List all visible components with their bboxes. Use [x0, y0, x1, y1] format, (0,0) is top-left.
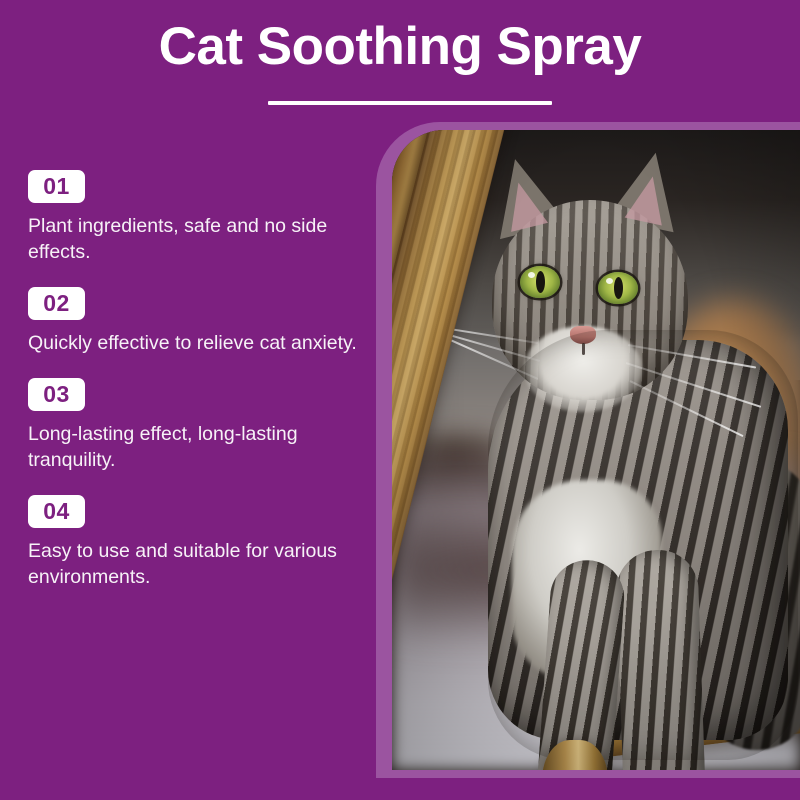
- feature-description: Easy to use and suitable for various env…: [28, 538, 364, 590]
- feature-item-04: 04 Easy to use and suitable for various …: [28, 495, 368, 590]
- feature-number-badge: 03: [28, 378, 85, 411]
- feature-number-badge: 02: [28, 287, 85, 320]
- page-title: Cat Soothing Spray: [0, 16, 800, 78]
- cat-nose: [570, 326, 596, 344]
- feature-item-02: 02 Quickly effective to relieve cat anxi…: [28, 287, 368, 356]
- poster-header: Cat Soothing Spray: [0, 0, 800, 122]
- feature-description: Quickly effective to relieve cat anxiety…: [28, 330, 364, 356]
- cat-pupil-left: [536, 271, 545, 293]
- cat-photo: [392, 130, 800, 770]
- feature-description: Plant ingredients, safe and no side effe…: [28, 213, 364, 265]
- feature-description: Long-lasting effect, long-lasting tranqu…: [28, 421, 364, 473]
- cat-eye-glint-right: [606, 278, 613, 284]
- feature-number-badge: 04: [28, 495, 85, 528]
- product-feature-poster: Cat Soothing Spray: [0, 0, 800, 800]
- cat-mouth: [582, 343, 585, 355]
- feature-item-01: 01 Plant ingredients, safe and no side e…: [28, 170, 368, 265]
- cat-pupil-right: [614, 277, 623, 299]
- cat-leg-back: [615, 549, 707, 770]
- feature-list: 01 Plant ingredients, safe and no side e…: [28, 170, 368, 590]
- cat-eye-glint-left: [528, 272, 535, 278]
- feature-item-03: 03 Long-lasting effect, long-lasting tra…: [28, 378, 368, 473]
- feature-number-badge: 01: [28, 170, 85, 203]
- title-divider: [268, 101, 552, 105]
- cat-photo-illustration: [392, 130, 800, 770]
